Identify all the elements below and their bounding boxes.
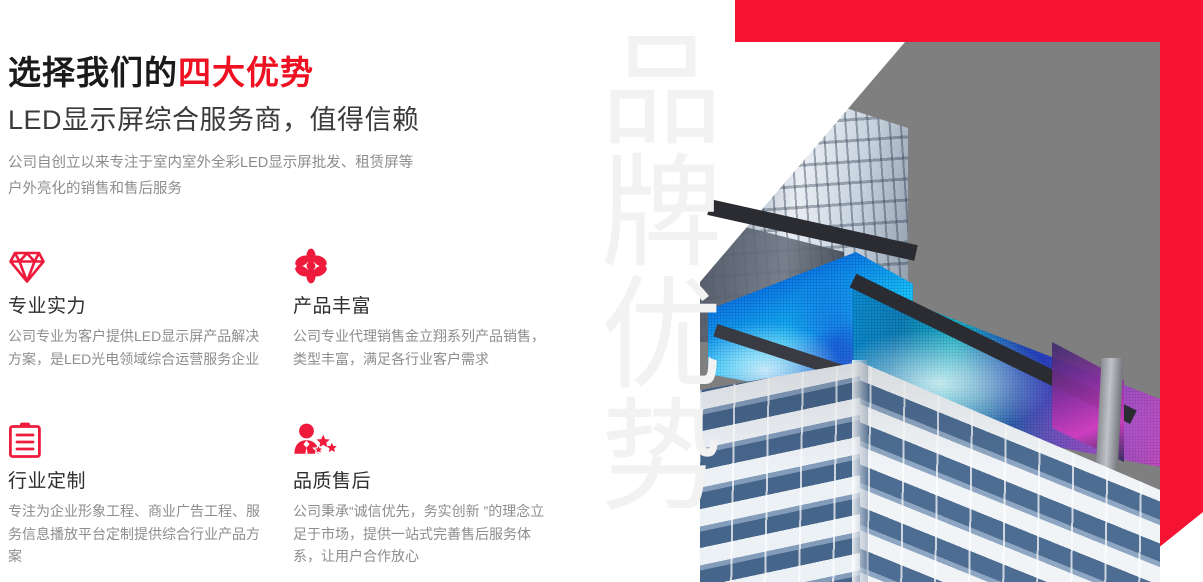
feature-card-2: 产品丰富 公司专业代理销售金立翔系列产品销售，类型丰富，满足各行业客户需求 <box>293 240 578 415</box>
billboard-photo: 开业期间 活动优惠多多 <box>700 42 1160 582</box>
feature-card-3: 行业定制 专注为企业形象工程、商业广告工程、服务信息播放平台定制提供综合行业产品… <box>8 415 293 582</box>
headline-accent: 四大优势 <box>178 54 314 91</box>
feature-body: 专注为企业形象工程、商业广告工程、服务信息播放平台定制提供综合行业产品方案 <box>8 500 270 568</box>
feature-grid: 专业实力 公司专业为客户提供LED显示屏产品解决方案，是LED光电领域综合运营服… <box>8 240 588 582</box>
feature-title: 产品丰富 <box>293 291 560 318</box>
feature-card-1: 专业实力 公司专业为客户提供LED显示屏产品解决方案，是LED光电领域综合运营服… <box>8 240 293 415</box>
page-title: 选择我们的四大优势 <box>8 54 600 93</box>
watermark-text: 品牌优势 <box>595 26 707 571</box>
lead-line-1: 公司自创立以来专注于室内室外全彩LED显示屏批发、租赁屏等 <box>8 155 413 171</box>
led-frame-left <box>707 199 917 261</box>
feature-body: 公司专业代理销售金立翔系列产品销售，类型丰富，满足各行业客户需求 <box>293 325 555 370</box>
lead-paragraph: 公司自创立以来专注于室内室外全彩LED显示屏批发、租赁屏等户外亮化的销售和售后服… <box>8 150 528 203</box>
feature-body: 公司专业为客户提供LED显示屏产品解决方案，是LED光电领域综合运营服务企业 <box>8 325 270 370</box>
feature-card-4: 品质售后 公司秉承“诚信优先，务实创新 ”的理念立足于市场，提供一站式完善售后服… <box>293 415 578 582</box>
page-subtitle: LED显示屏综合服务商，值得信赖 <box>8 104 600 138</box>
advantages-section: 开业期间 活动优惠多多 品牌优势 选择我们的四大优势 LED显示屏综合服务商，值… <box>0 0 1203 582</box>
flower-icon <box>293 240 560 284</box>
person-stars-icon <box>293 415 560 459</box>
diamond-icon <box>8 240 275 284</box>
feature-body: 公司秉承“诚信优先，务实创新 ”的理念立足于市场，提供一站式完善售后服务体系，让… <box>293 500 555 568</box>
feature-title: 专业实力 <box>8 291 275 318</box>
headline-plain: 选择我们的 <box>8 54 178 91</box>
feature-title: 品质售后 <box>293 466 560 493</box>
lead-line-2: 户外亮化的销售和售后服务 <box>8 181 182 197</box>
feature-title: 行业定制 <box>8 466 275 493</box>
clipboard-icon <box>8 415 275 459</box>
